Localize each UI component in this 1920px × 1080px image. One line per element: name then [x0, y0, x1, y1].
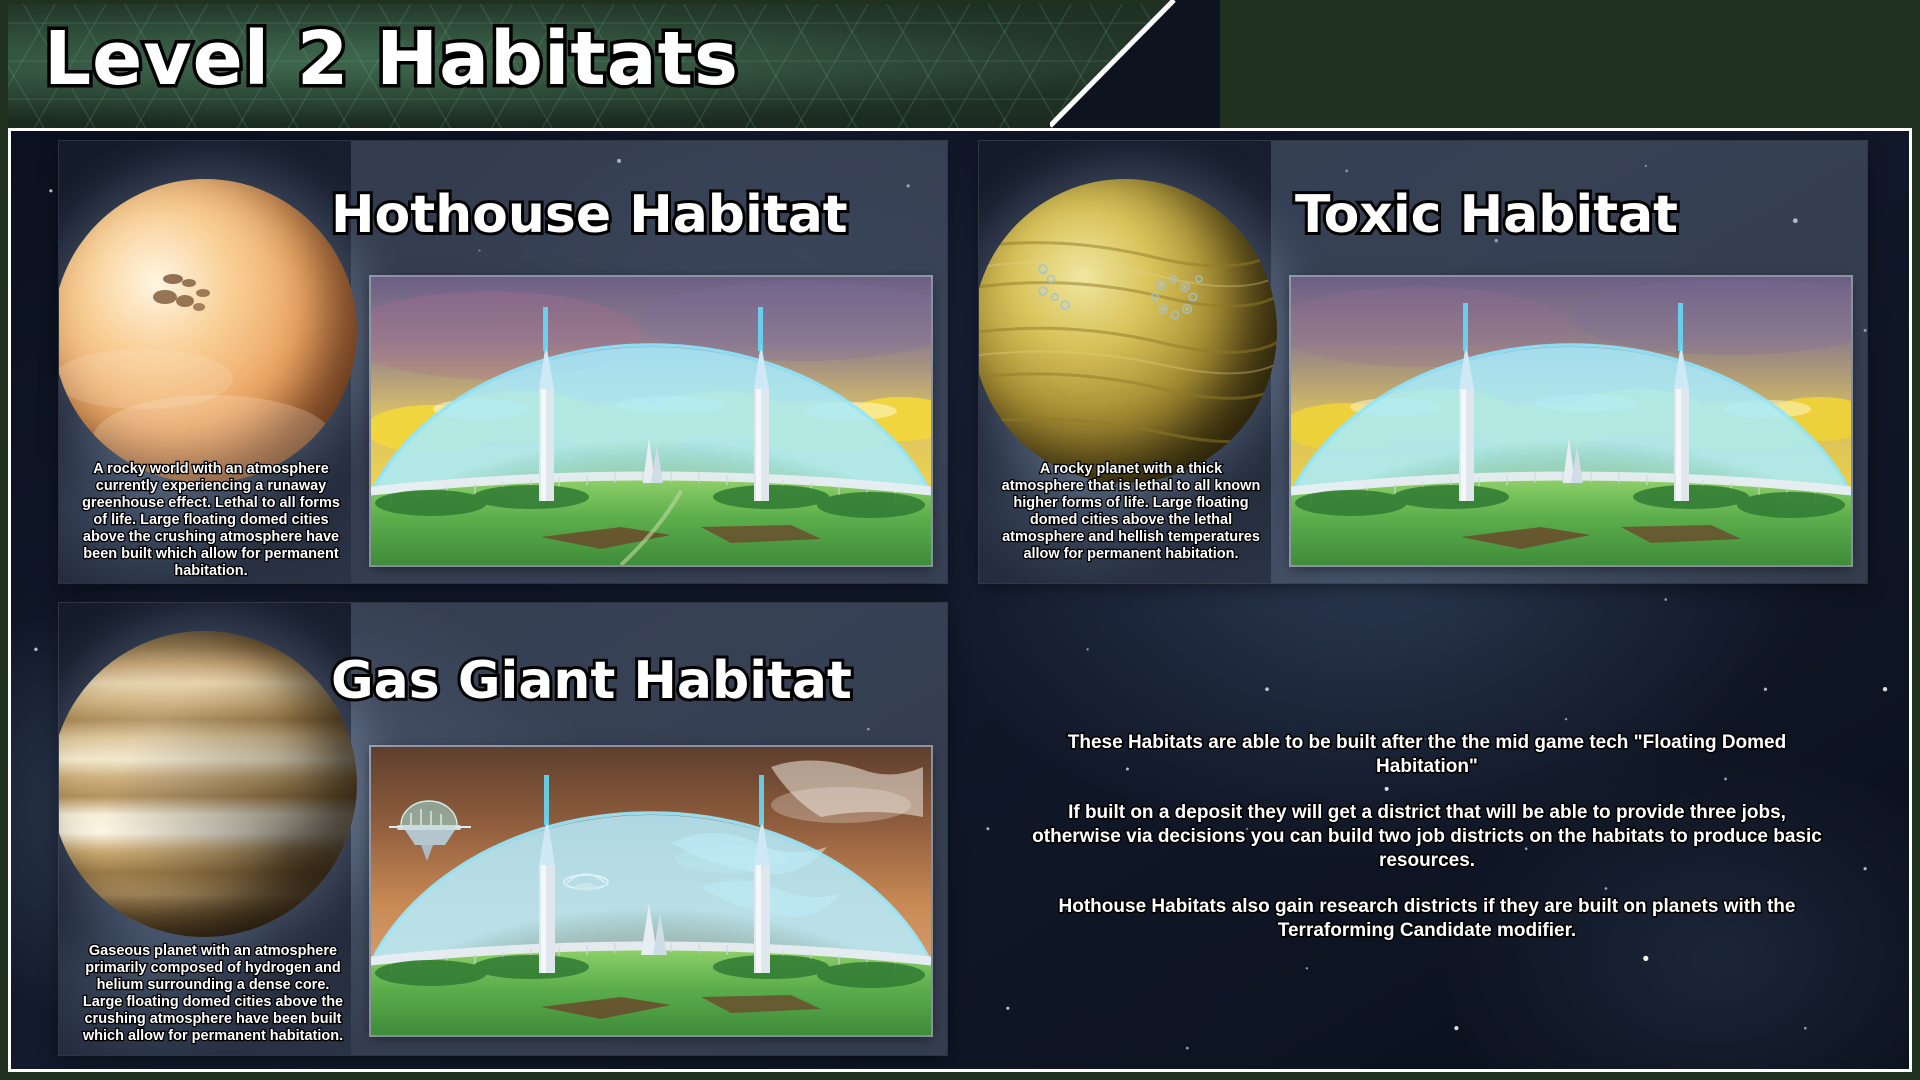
habitat-title-toxic: Toxic Habitat [1295, 185, 1678, 245]
header-banner: Level 2 Habitats [8, 4, 1188, 128]
page-title: Level 2 Habitats [44, 18, 1188, 100]
gas-giant-habitat-art [371, 747, 931, 1035]
info-paragraph-2: If built on a deposit they will get a di… [1027, 801, 1827, 873]
habitat-description-toxic: A rocky planet with a thick atmosphere t… [1001, 461, 1261, 563]
habitat-description-hothouse: A rocky world with an atmosphere current… [81, 461, 341, 580]
hothouse-habitat-art [371, 277, 931, 565]
info-paragraph-1: These Habitats are able to be built afte… [1027, 731, 1827, 779]
toxic-surface-detail [979, 179, 1277, 483]
habitat-panel-toxic[interactable]: Toxic Habitat A rocky planet with a thic… [979, 141, 1867, 583]
habitat-description-gas-giant: Gaseous planet with an atmosphere primar… [81, 943, 345, 1045]
habitat-title-hothouse: Hothouse Habitat [331, 185, 848, 245]
info-paragraph-3: Hothouse Habitats also gain research dis… [1027, 895, 1827, 943]
habitat-panel-hothouse[interactable]: Hothouse Habitat A rocky world with an a… [59, 141, 947, 583]
gas-giant-shading [59, 631, 357, 937]
hothouse-surface-detail [59, 179, 357, 483]
toxic-habitat-art [1291, 277, 1851, 565]
habitat-panel-gas-giant[interactable]: Gas Giant Habitat Gaseous planet with an… [59, 603, 947, 1055]
habitat-title-gas-giant: Gas Giant Habitat [331, 651, 852, 711]
content-frame: Hothouse Habitat A rocky world with an a… [8, 128, 1912, 1072]
poster-root: Level 2 Habitats [0, 0, 1920, 1080]
info-text-block: These Habitats are able to be built afte… [1027, 731, 1827, 943]
